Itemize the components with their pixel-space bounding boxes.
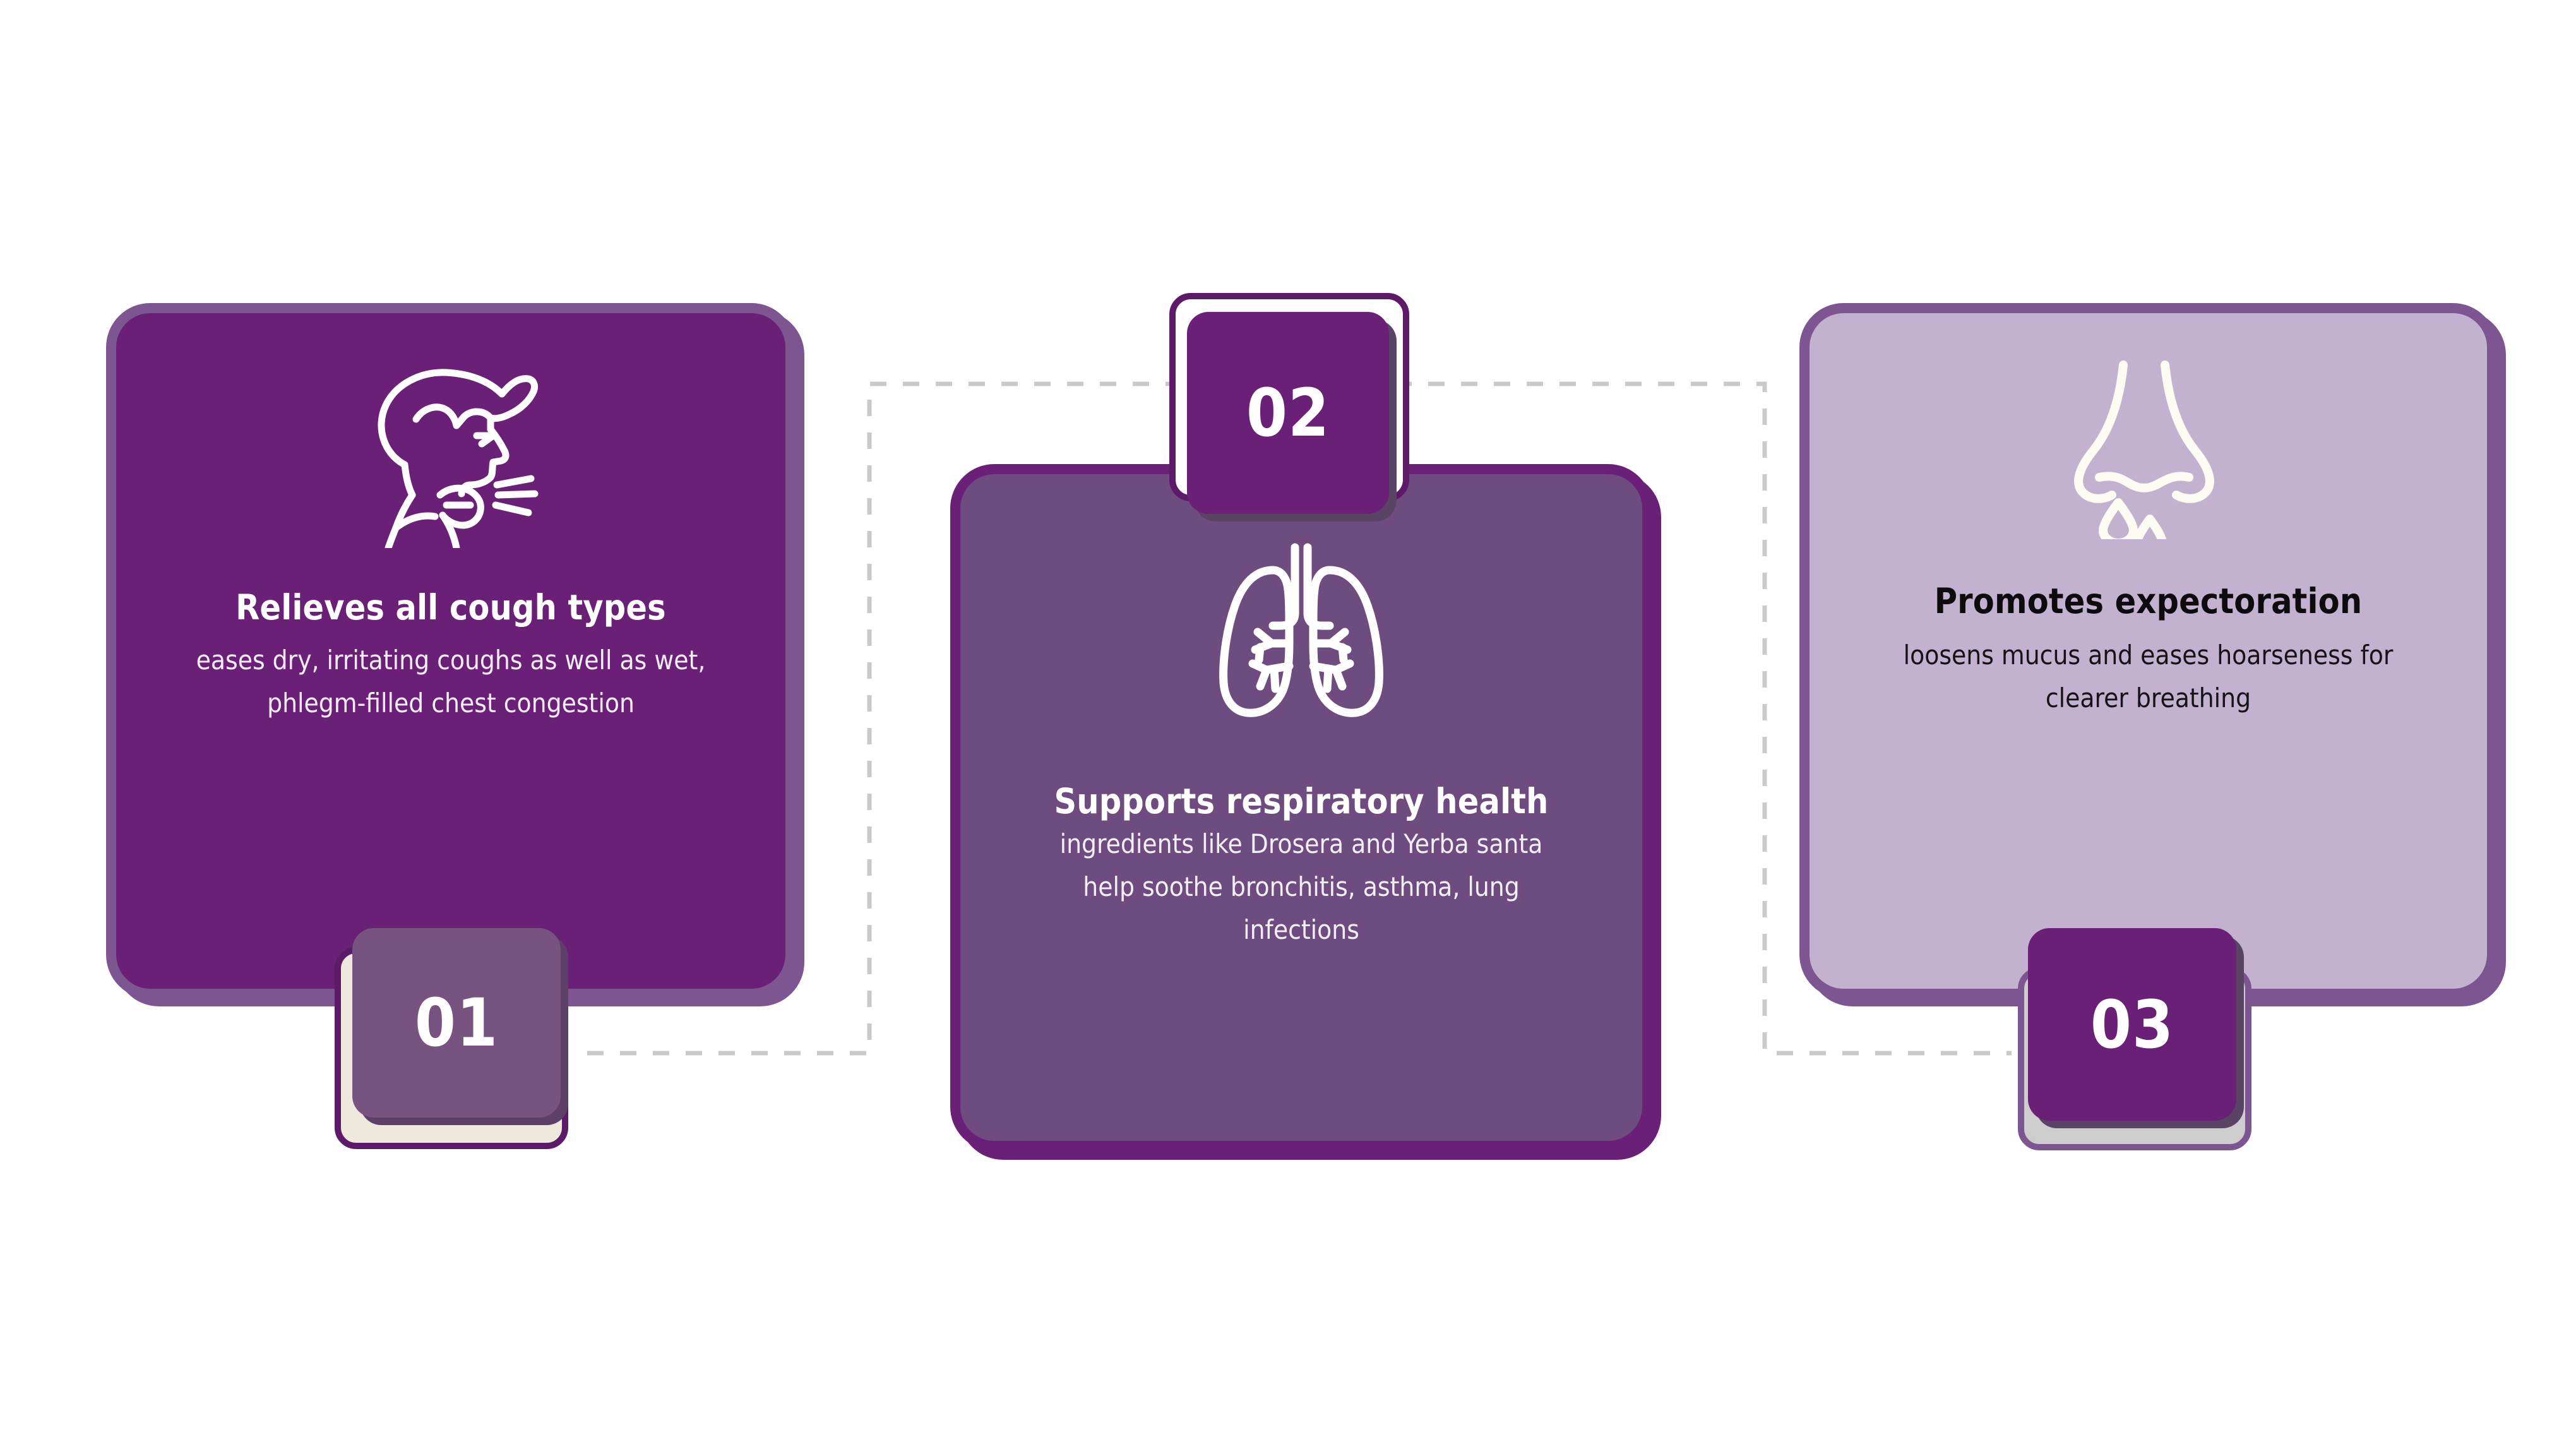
coughing-person-icon — [347, 359, 555, 548]
badge-01[interactable]: 01 — [321, 909, 586, 1162]
card-3-body: loosens mucus and eases hoarseness for c… — [1871, 634, 2426, 720]
card-2-body: ingredients like Drosera and Yerba santa… — [1052, 823, 1551, 951]
card-3-title: Promotes expectoration — [1935, 583, 2363, 620]
infographic-stage: Relieves all cough types eases dry, irri… — [0, 0, 2576, 1449]
card-promotes-expectoration[interactable]: Promotes expectoration loosens mucus and… — [1799, 303, 2497, 999]
runny-nose-icon — [2054, 356, 2243, 539]
badge-02-number: 02 — [1187, 312, 1389, 514]
card-relieves-all-cough-types[interactable]: Relieves all cough types eases dry, irri… — [106, 303, 796, 999]
card-1-body: eases dry, irritating coughs as well as … — [192, 639, 710, 725]
badge-03[interactable]: 03 — [2012, 909, 2283, 1162]
card-2-title: Supports respiratory health — [1054, 784, 1548, 820]
card-1-title: Relieves all cough types — [236, 590, 666, 626]
lungs-icon — [1197, 542, 1405, 725]
badge-03-number: 03 — [2028, 928, 2236, 1121]
card-supports-respiratory-health[interactable]: Supports respiratory health ingredients … — [950, 464, 1652, 1151]
badge-01-number: 01 — [352, 928, 561, 1118]
badge-02[interactable]: 02 — [1169, 283, 1434, 548]
